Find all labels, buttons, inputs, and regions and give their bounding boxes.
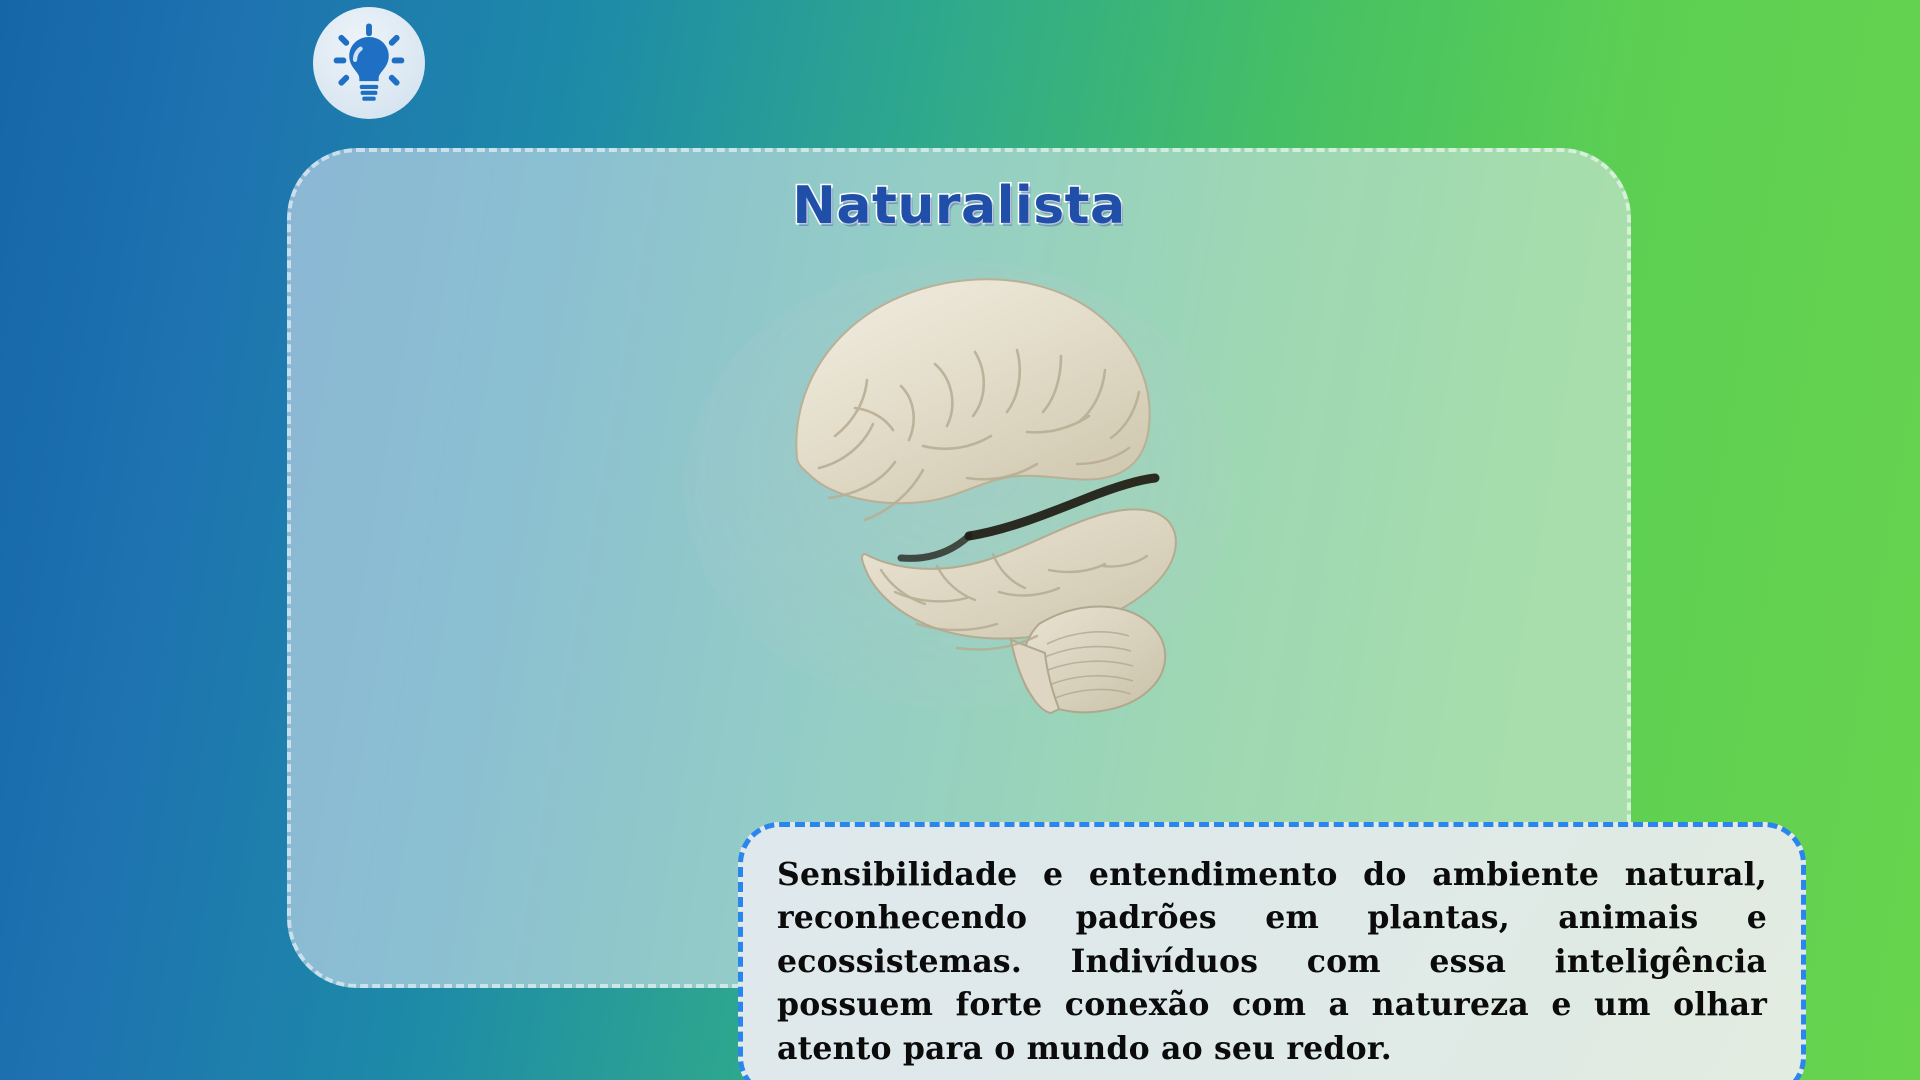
lightbulb-badge xyxy=(313,7,425,119)
brain-image xyxy=(669,236,1249,716)
page-title: Naturalista xyxy=(291,176,1627,236)
description-text: Sensibilidade e entendimento do ambiente… xyxy=(777,853,1767,1070)
description-box: Sensibilidade e entendimento do ambiente… xyxy=(738,822,1806,1080)
slide-root: Naturalista xyxy=(0,0,1920,1080)
content-card: Naturalista xyxy=(287,148,1631,988)
lightbulb-icon xyxy=(327,21,411,105)
